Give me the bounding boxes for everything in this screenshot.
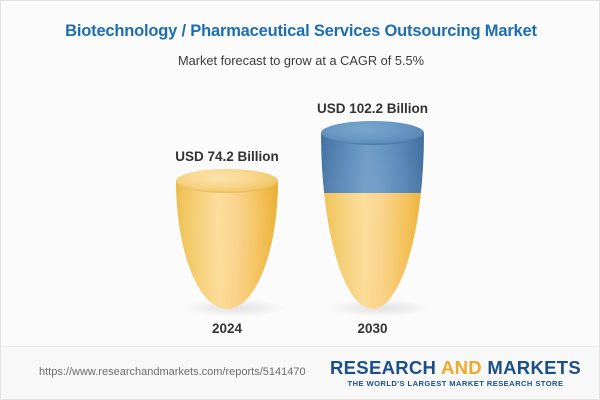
category-label-2030: 2030 [273, 321, 473, 336]
bar-value-label-2024: USD 74.2 Billion [127, 149, 327, 164]
logo-word-research: RESEARCH [330, 357, 436, 378]
infographic-canvas: Biotechnology / Pharmaceutical Services … [0, 0, 600, 400]
chart-plot-area: USD 74.2 Billion 2024 USD 102.2 Billion [1, 1, 600, 346]
research-and-markets-logo[interactable]: RESEARCH AND MARKETS THE WORLD'S LARGEST… [330, 357, 581, 388]
bar-value-label-2030: USD 102.2 Billion [273, 101, 473, 116]
cylinder-2030[interactable] [321, 121, 424, 309]
footer: https://www.researchandmarkets.com/repor… [1, 347, 600, 400]
cylinder-segment-base-2030 [321, 193, 424, 309]
cylinder-top-ellipse-2024 [176, 169, 278, 193]
cylinder-body-2024 [176, 181, 278, 309]
logo-word-and: AND [441, 357, 482, 378]
logo-tagline: THE WORLD'S LARGEST MARKET RESEARCH STOR… [330, 379, 581, 388]
report-url-link[interactable]: https://www.researchandmarkets.com/repor… [39, 366, 306, 378]
cylinder-top-ellipse-2030 [321, 121, 424, 145]
cylinder-body-2030 [321, 133, 424, 309]
bar-group-2030: USD 102.2 Billion 2030 [321, 1, 424, 346]
cylinder-segment-base-2024 [176, 181, 278, 309]
cylinder-2024[interactable] [176, 169, 278, 309]
logo-wordmark: RESEARCH AND MARKETS [330, 357, 581, 378]
bar-group-2024: USD 74.2 Billion 2024 [176, 1, 278, 346]
logo-word-markets: MARKETS [487, 357, 581, 378]
